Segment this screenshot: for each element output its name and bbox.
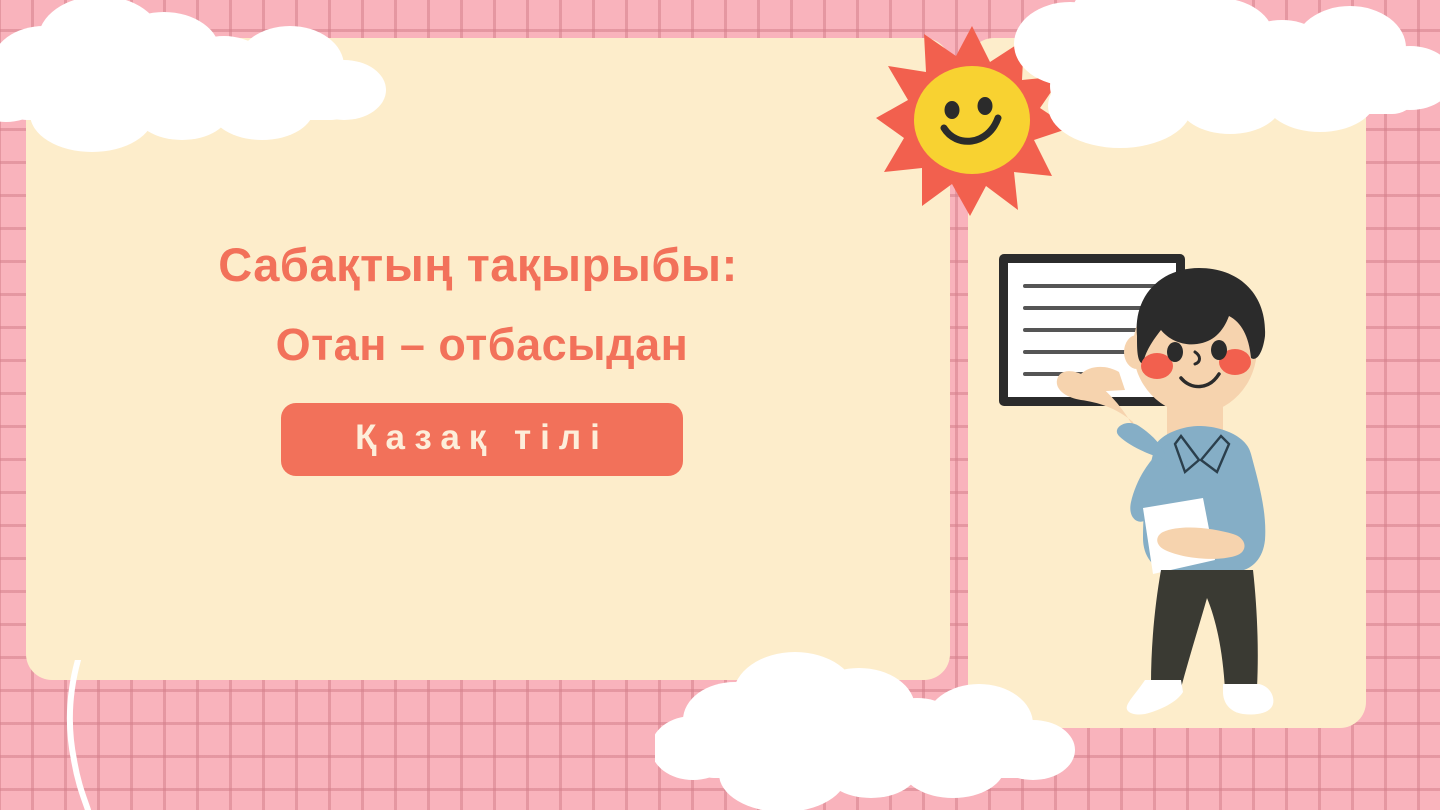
balloon-string-line — [40, 660, 160, 810]
lesson-topic-label: Сабақтың тақырыбы: — [218, 238, 737, 293]
slide-canvas: Сабақтың тақырыбы: Отан – отбасыдан Қаза… — [0, 0, 1440, 810]
cloud-icon — [1010, 0, 1440, 156]
lesson-topic-value: Отан – отбасыдан — [276, 319, 689, 371]
subject-badge: Қазақ тілі — [281, 403, 683, 476]
title-text-block: Сабақтың тақырыбы: Отан – отбасыдан Қаза… — [62, 238, 902, 476]
boy-pointing-at-whiteboard-illustration — [985, 240, 1345, 732]
cloud-icon — [0, 0, 392, 166]
